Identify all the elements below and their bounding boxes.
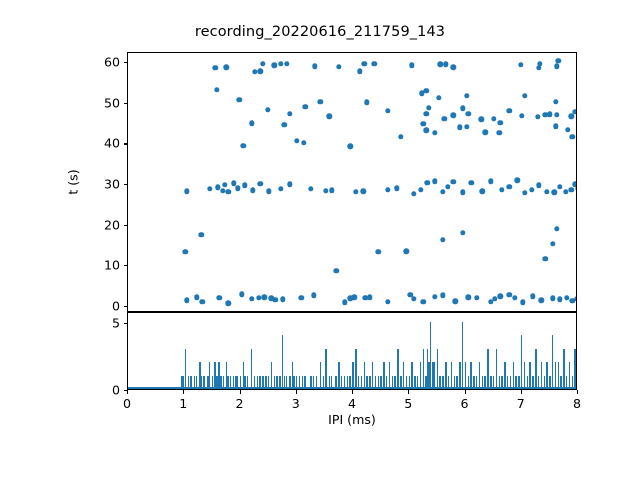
scatter-point	[556, 58, 561, 63]
histogram-bar	[268, 376, 269, 389]
histogram-bar	[400, 376, 401, 389]
histogram-bar	[289, 376, 290, 389]
histogram-bar	[347, 376, 348, 389]
scatter-point	[552, 190, 557, 195]
x-tick-label: 6	[460, 396, 468, 411]
histogram-bar	[473, 376, 474, 389]
histogram-bar	[414, 376, 415, 389]
scatter-point	[437, 62, 442, 67]
histogram-bar	[521, 335, 522, 389]
histogram-bar	[518, 376, 519, 389]
scatter-y-tick-label: 0	[79, 298, 120, 313]
x-tick-label: 7	[517, 396, 525, 411]
scatter-point	[421, 121, 426, 126]
scatter-point	[329, 188, 334, 193]
scatter-point	[261, 294, 266, 299]
scatter-point	[423, 127, 428, 132]
scatter-point	[498, 294, 503, 299]
scatter-point	[333, 268, 338, 273]
scatter-point	[287, 111, 292, 116]
histogram-bar	[490, 376, 491, 389]
histogram-bar	[200, 376, 201, 389]
histogram-bar	[442, 376, 443, 389]
scatter-point	[569, 187, 574, 192]
histogram-bar	[284, 376, 285, 389]
histogram-bar	[549, 376, 550, 389]
scatter-point	[530, 294, 535, 299]
histogram-bar	[501, 376, 502, 389]
scatter-point	[543, 256, 548, 261]
x-tick-mark	[408, 390, 409, 394]
histogram-bar	[358, 376, 359, 389]
scatter-point	[200, 299, 205, 304]
histogram-bar	[476, 376, 477, 389]
scatter-point	[260, 61, 265, 66]
histogram-bar	[541, 362, 542, 389]
scatter-point	[474, 295, 479, 300]
scatter-point	[554, 226, 559, 231]
scatter-point	[278, 61, 283, 66]
scatter-point	[237, 97, 242, 102]
histogram-bar	[409, 376, 410, 389]
scatter-point	[398, 134, 403, 139]
histogram-bar	[304, 376, 305, 389]
x-tick-label: 1	[179, 396, 187, 411]
scatter-point	[278, 186, 283, 191]
histogram-bar	[487, 349, 488, 389]
scatter-point	[242, 183, 247, 188]
histogram-bar	[454, 376, 455, 389]
scatter-point	[272, 62, 277, 67]
histogram-bar	[563, 349, 564, 389]
scatter-point	[318, 99, 323, 104]
histogram-bar	[196, 376, 197, 389]
scatter-point	[225, 301, 230, 306]
histogram-bar	[338, 362, 339, 389]
scatter-point	[539, 298, 544, 303]
histogram-bar	[230, 376, 231, 389]
scatter-point	[440, 237, 445, 242]
scatter-point	[287, 182, 292, 187]
scatter-point	[441, 116, 446, 121]
histogram-bar	[558, 362, 559, 389]
scatter-point	[364, 99, 369, 104]
scatter-point	[544, 189, 549, 194]
scatter-point	[385, 187, 390, 192]
histogram-bar	[411, 362, 412, 389]
scatter-point	[312, 64, 317, 69]
x-tick-mark	[465, 390, 466, 394]
histogram-bar	[515, 376, 516, 389]
scatter-point	[336, 64, 341, 69]
histogram-bar	[274, 376, 275, 389]
scatter-point	[432, 179, 437, 184]
scatter-point	[553, 123, 558, 128]
scatter-point	[498, 120, 503, 125]
histogram-bar	[383, 362, 384, 389]
histogram-bar	[329, 376, 330, 389]
histogram-bar	[552, 335, 553, 389]
scatter-point	[464, 124, 469, 129]
scatter-point	[507, 184, 512, 189]
histogram-bar	[220, 376, 221, 389]
histogram-bar	[212, 376, 213, 389]
scatter-point	[432, 294, 437, 299]
histogram-bar	[185, 349, 186, 389]
scatter-point	[239, 292, 244, 297]
scatter-point	[266, 188, 271, 193]
histogram-bar	[430, 322, 431, 389]
histogram-bar	[462, 322, 463, 389]
scatter-point	[443, 62, 448, 67]
x-tick-label: 3	[292, 396, 300, 411]
scatter-point	[570, 134, 575, 139]
scatter-point	[491, 116, 496, 121]
histogram-bar	[456, 376, 457, 389]
scatter-point	[499, 187, 504, 192]
scatter-point	[327, 114, 332, 119]
x-axis-label: IPI (ms)	[328, 412, 376, 427]
scatter-point	[488, 179, 493, 184]
histogram-bar	[265, 376, 266, 389]
scatter-plot-axes	[127, 52, 577, 312]
scatter-point	[512, 295, 517, 300]
histogram-bar	[507, 376, 508, 389]
histogram-bar	[527, 376, 528, 389]
scatter-point	[184, 298, 189, 303]
histogram-bar	[335, 376, 336, 389]
histogram-bar	[532, 376, 533, 389]
scatter-point	[460, 190, 465, 195]
x-tick-mark	[352, 390, 353, 394]
scatter-point	[457, 125, 462, 130]
x-tick-label: 0	[123, 396, 131, 411]
histogram-bar	[182, 376, 183, 389]
scatter-point	[574, 296, 576, 301]
histogram-bar	[262, 376, 263, 389]
histogram-bar	[190, 376, 191, 389]
scatter-point	[450, 179, 455, 184]
histogram-bar	[257, 376, 258, 389]
histogram-bar	[465, 362, 466, 389]
histogram-bar	[397, 349, 398, 389]
histogram-bar	[203, 376, 204, 389]
scatter-point	[554, 112, 559, 117]
scatter-point	[515, 177, 520, 182]
scatter-point	[460, 230, 465, 235]
histogram-bar	[240, 376, 241, 389]
scatter-point	[557, 296, 562, 301]
scatter-point	[212, 65, 217, 70]
scatter-point	[522, 190, 527, 195]
histogram-bar	[566, 376, 567, 389]
scatter-y-tick-label: 60	[79, 55, 120, 70]
scatter-point	[357, 69, 362, 74]
histogram-bar	[325, 349, 326, 389]
histogram-bar	[279, 376, 280, 389]
scatter-point	[351, 294, 356, 299]
histogram-bar	[364, 362, 365, 389]
histogram-bar	[247, 376, 248, 389]
scatter-point	[235, 186, 240, 191]
scatter-point	[418, 187, 423, 192]
histogram-y-tick-label: 5	[79, 315, 120, 330]
scatter-point	[241, 143, 246, 148]
histogram-bar	[451, 362, 452, 389]
scatter-point	[535, 114, 540, 119]
x-tick-mark	[296, 390, 297, 394]
scatter-point	[250, 188, 255, 193]
scatter-point	[425, 180, 430, 185]
scatter-point	[214, 87, 219, 92]
histogram-bar	[227, 376, 228, 389]
scatter-point	[507, 108, 512, 113]
scatter-point	[257, 69, 262, 74]
histogram-bars-layer	[128, 313, 576, 389]
scatter-y-tick-mark	[124, 184, 128, 185]
histogram-bar	[251, 349, 252, 389]
scatter-point	[360, 188, 365, 193]
scatter-point	[308, 186, 313, 191]
scatter-point	[537, 61, 542, 66]
histogram-bar	[302, 376, 303, 389]
scatter-y-tick-mark	[124, 62, 128, 63]
scatter-points-layer	[128, 53, 576, 311]
scatter-point	[394, 186, 399, 191]
histogram-y-tick-label: 0	[79, 383, 120, 398]
scatter-point	[564, 295, 569, 300]
histogram-bar	[355, 349, 356, 389]
scatter-point	[522, 93, 527, 98]
histogram-bar	[482, 376, 483, 389]
histogram-bar	[513, 362, 514, 389]
scatter-point	[423, 88, 428, 93]
scatter-point	[423, 111, 428, 116]
scatter-point	[184, 188, 189, 193]
scatter-point	[249, 296, 254, 301]
scatter-point	[411, 191, 416, 196]
scatter-point	[529, 187, 534, 192]
histogram-bar	[479, 362, 480, 389]
x-tick-mark	[183, 390, 184, 394]
scatter-point	[536, 183, 541, 188]
scatter-point	[372, 61, 377, 66]
x-tick-mark	[240, 390, 241, 394]
histogram-bar	[341, 376, 342, 389]
histogram-bar	[380, 376, 381, 389]
scatter-point	[222, 182, 227, 187]
scatter-y-tick-mark	[124, 143, 128, 144]
scatter-point	[557, 184, 562, 189]
figure-canvas: recording_20220616_211759_143 t (s) 0102…	[0, 0, 640, 480]
histogram-bar	[331, 376, 332, 389]
histogram-bar	[375, 376, 376, 389]
x-tick-mark	[127, 390, 128, 394]
histogram-bar	[323, 376, 324, 389]
scatter-point	[301, 140, 306, 145]
x-tick-label: 5	[404, 396, 412, 411]
scatter-point	[342, 300, 347, 305]
histogram-bar	[344, 376, 345, 389]
scatter-point	[520, 300, 525, 305]
histogram-bar	[259, 376, 260, 389]
scatter-point	[404, 249, 409, 254]
scatter-y-tick-mark	[124, 306, 128, 307]
histogram-bar	[538, 376, 539, 389]
scatter-point	[183, 249, 188, 254]
histogram-bar	[296, 376, 297, 389]
histogram-bar	[361, 376, 362, 389]
histogram-y-tick-mark	[124, 323, 128, 324]
scatter-point	[553, 99, 558, 104]
scatter-point	[224, 65, 229, 70]
scatter-point	[347, 144, 352, 149]
histogram-bar	[188, 376, 189, 389]
scatter-point	[460, 106, 465, 111]
scatter-point	[353, 189, 358, 194]
histogram-bar	[420, 362, 421, 389]
histogram-bar	[423, 349, 424, 389]
scatter-point	[216, 295, 221, 300]
histogram-bar	[349, 376, 350, 389]
scatter-point	[367, 294, 372, 299]
scatter-y-tick-label: 20	[79, 217, 120, 232]
scatter-point	[282, 122, 287, 127]
histogram-bar	[223, 376, 224, 389]
scatter-point	[421, 299, 426, 304]
x-tick-label: 8	[573, 396, 581, 411]
histogram-bar	[394, 376, 395, 389]
scatter-point	[265, 107, 270, 112]
histogram-bar	[439, 376, 440, 389]
histogram-bar	[352, 362, 353, 389]
scatter-point	[480, 188, 485, 193]
histogram-bar	[437, 349, 438, 389]
scatter-point	[569, 114, 574, 119]
histogram-bar	[445, 362, 446, 389]
scatter-point	[409, 62, 414, 67]
histogram-bar	[403, 362, 404, 389]
histogram-bar	[493, 376, 494, 389]
scatter-point	[376, 249, 381, 254]
scatter-point	[550, 296, 555, 301]
histogram-bar	[417, 376, 418, 389]
page-title: recording_20220616_211759_143	[0, 24, 640, 40]
histogram-bar	[372, 362, 373, 389]
histogram-bar	[378, 376, 379, 389]
scatter-y-tick-label: 50	[79, 95, 120, 110]
histogram-bar	[233, 376, 234, 389]
scatter-point	[207, 186, 212, 191]
scatter-point	[432, 130, 437, 135]
histogram-bar	[313, 376, 314, 389]
x-tick-mark	[577, 390, 578, 394]
x-tick-label: 2	[235, 396, 243, 411]
scatter-point	[563, 189, 568, 194]
histogram-bar	[535, 349, 536, 389]
scatter-point	[302, 104, 307, 109]
scatter-point	[453, 299, 458, 304]
histogram-bar	[448, 376, 449, 389]
scatter-point	[273, 297, 278, 302]
scatter-point	[311, 292, 316, 297]
histogram-bar	[310, 376, 311, 389]
scatter-point	[194, 294, 199, 299]
scatter-point	[482, 130, 487, 135]
histogram-bar	[496, 349, 497, 389]
scatter-point	[519, 113, 524, 118]
scatter-point	[294, 138, 299, 143]
histogram-bar	[389, 362, 390, 389]
scatter-point	[440, 189, 445, 194]
histogram-bar	[386, 376, 387, 389]
histogram-axes	[127, 312, 577, 390]
histogram-bar	[484, 376, 485, 389]
scatter-y-tick-label: 40	[79, 136, 120, 151]
scatter-point	[554, 64, 559, 69]
scatter-point	[518, 62, 523, 67]
histogram-bar	[406, 376, 407, 389]
histogram-bar	[209, 362, 210, 389]
histogram-bar	[459, 362, 460, 389]
scatter-y-tick-mark	[124, 225, 128, 226]
histogram-bar	[271, 362, 272, 389]
scatter-point	[436, 95, 441, 100]
histogram-bar	[286, 376, 287, 389]
scatter-point	[572, 109, 576, 114]
scatter-point	[280, 296, 285, 301]
histogram-bar	[392, 376, 393, 389]
scatter-y-tick-mark	[124, 103, 128, 104]
scatter-point	[362, 61, 367, 66]
histogram-bar	[237, 376, 238, 389]
scatter-point	[445, 184, 450, 189]
scatter-point	[507, 292, 512, 297]
histogram-bar	[510, 376, 511, 389]
scatter-point	[464, 93, 469, 98]
histogram-bar	[555, 362, 556, 389]
histogram-bar	[276, 376, 277, 389]
histogram-bar	[524, 362, 525, 389]
histogram-bar	[468, 376, 469, 389]
scatter-point	[550, 241, 555, 246]
x-tick-mark	[521, 390, 522, 394]
histogram-bar	[254, 376, 255, 389]
scatter-point	[411, 296, 416, 301]
scatter-point	[198, 232, 203, 237]
scatter-point	[249, 121, 254, 126]
scatter-y-tick-label: 10	[79, 258, 120, 273]
scatter-point	[466, 111, 471, 116]
scatter-point	[497, 130, 502, 135]
histogram-bar	[572, 376, 573, 389]
scatter-point	[252, 69, 257, 74]
scatter-point	[299, 295, 304, 300]
scatter-point	[385, 108, 390, 113]
histogram-bar	[546, 362, 547, 389]
scatter-point	[225, 189, 230, 194]
scatter-point	[220, 188, 225, 193]
histogram-bar	[434, 362, 435, 389]
histogram-bar	[320, 362, 321, 389]
histogram-bar	[560, 376, 561, 389]
histogram-bar	[529, 362, 530, 389]
scatter-y-tick-mark	[124, 265, 128, 266]
histogram-bar	[504, 362, 505, 389]
scatter-point	[323, 188, 328, 193]
histogram-bar	[366, 376, 367, 389]
scatter-point	[479, 117, 484, 122]
